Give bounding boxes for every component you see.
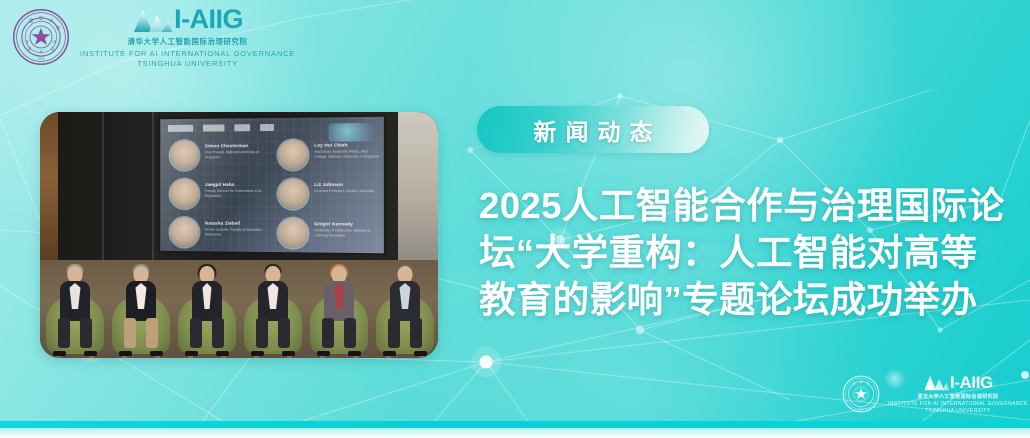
tsinghua-university-seal-icon: 清华大学 自强不息厚 1911 (12, 8, 70, 66)
panelist (316, 266, 362, 352)
svg-text:息: 息 (51, 46, 54, 51)
brand-english-line1: INSTITUTE FOR AI INTERNATIONAL GOVERNANC… (80, 49, 295, 58)
brand-english-line1: INSTITUTE FOR AI INTERNATIONAL GOVERNANC… (888, 401, 1028, 407)
tsinghua-university-seal-icon: 清华大 1911 (842, 375, 880, 413)
projector-screen: Simon Chesterman Vice Provost, National … (160, 117, 384, 254)
footer-accent-band (0, 421, 1030, 428)
svg-text:大: 大 (49, 18, 54, 25)
institute-logo-footer: 清华大 1911 I-AIIG 清华大学人工智能国际治理研究院 INSTITUT… (842, 374, 1028, 414)
svg-text:大: 大 (866, 381, 869, 386)
panelist (118, 266, 164, 352)
news-category-label: 新闻动态 (525, 113, 662, 147)
footer-fade-band (0, 428, 1030, 438)
svg-text:强: 强 (28, 46, 32, 51)
institute-logo-header: 清华大学 自强不息厚 1911 (12, 6, 295, 68)
i-aiig-mark: I-AIIG (132, 6, 243, 33)
headline-line-1: 2025人工智能合作与治理国际论 (479, 182, 1023, 229)
brand-chinese-name: 清华大学人工智能国际治理研究院 (917, 393, 998, 400)
brand-wordmark: I-AIIG (174, 6, 243, 33)
news-banner: 清华大学 自强不息厚 1911 (0, 0, 1030, 438)
svg-text:清: 清 (28, 18, 33, 25)
brand-english-line2: TSINGHUA UNIVERSITY (925, 408, 991, 414)
svg-text:华: 华 (39, 15, 44, 22)
brand-english-line2: TSINGHUA UNIVERSITY (137, 59, 238, 68)
panelist (52, 266, 98, 352)
svg-text:华: 华 (859, 379, 862, 384)
svg-text:清: 清 (853, 381, 856, 386)
svg-text:1911: 1911 (859, 408, 865, 410)
svg-text:1911: 1911 (37, 57, 45, 61)
panelist (250, 266, 296, 352)
brand-chinese-name: 清华大学人工智能国际治理研究院 (128, 36, 248, 47)
page-title: 2025人工智能合作与治理国际论 坛“大学重构：人工智能对高等 教育的影响”专题… (479, 182, 1023, 323)
conference-panel-photo: Simon Chesterman Vice Provost, National … (40, 112, 438, 358)
svg-text:不: 不 (39, 50, 42, 54)
svg-text:厚: 厚 (53, 39, 56, 44)
headline-line-2: 坛“大学重构：人工智能对高等 (479, 229, 1023, 276)
brand-wordmark: I-AIIG (950, 374, 993, 391)
headline-line-3: 教育的影响”专题论坛成功举办 (479, 276, 1023, 323)
panelist (382, 266, 428, 352)
svg-text:自: 自 (26, 39, 29, 44)
mountain-peaks-icon (923, 374, 949, 391)
news-category-badge[interactable]: 新闻动态 (477, 106, 709, 153)
mountain-peaks-icon (132, 7, 172, 33)
panelist (184, 266, 230, 352)
screen-glare (160, 117, 384, 254)
photo-panelists (40, 235, 438, 358)
